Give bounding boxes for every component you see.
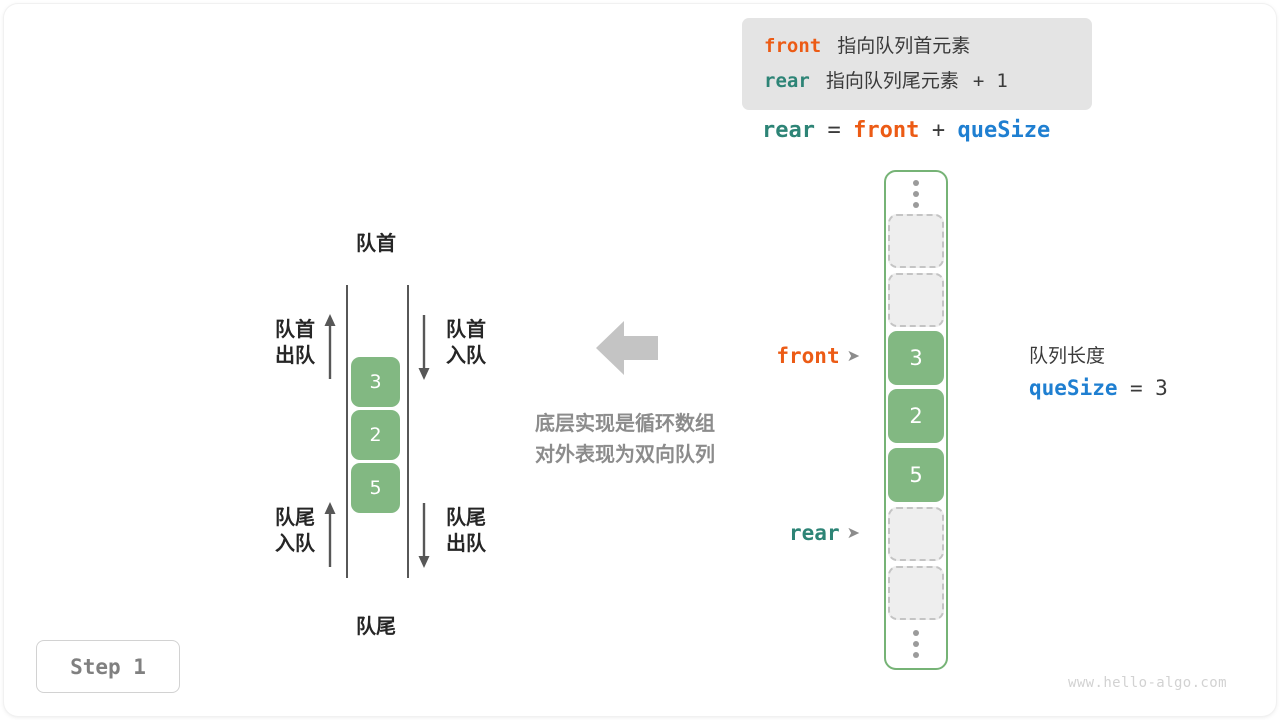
- arrow-up-front-pop-icon: [320, 313, 340, 381]
- op-tail-pop-label: 队尾 出队: [446, 505, 486, 556]
- array-cell-0: [888, 214, 944, 268]
- array-cell-2-value: 3: [909, 346, 922, 370]
- big-left-arrow-icon: [594, 318, 660, 378]
- legend-front-term: front: [764, 35, 821, 57]
- front-pointer-label: front➤: [700, 344, 860, 368]
- op-tail-push-label: 队尾 入队: [251, 505, 315, 556]
- front-pointer-arrow-icon: ➤: [847, 346, 860, 365]
- deque-cell-0: 3: [351, 357, 400, 407]
- rear-pointer-arrow-icon: ➤: [847, 523, 860, 542]
- op-front-push-label: 队首 入队: [446, 317, 486, 368]
- array-ellipsis-top-icon: [908, 180, 924, 214]
- op-tail-pop-line2: 出队: [446, 531, 486, 557]
- deque-cell-0-value: 3: [369, 371, 381, 393]
- arrow-up-tail-push-icon: [320, 501, 340, 569]
- op-tail-pop-line1: 队尾: [446, 505, 486, 531]
- array-ellipsis-bottom-icon: [908, 630, 924, 664]
- deque-cell-1-value: 2: [369, 424, 381, 446]
- op-front-push-line2: 入队: [446, 343, 486, 369]
- op-front-push-line1: 队首: [446, 317, 486, 343]
- diagram-canvas: front 指向队列首元素 rear 指向队列尾元素 + 1 rear = fr…: [0, 0, 1280, 720]
- legend-line-rear: rear 指向队列尾元素 + 1: [764, 66, 1008, 93]
- center-note: 底层实现是循环数组 对外表现为双向队列: [500, 408, 750, 470]
- rear-pointer-text: rear: [789, 521, 840, 545]
- legend-rear-one: 1: [996, 70, 1007, 92]
- formula-rhs-front: front: [853, 118, 919, 143]
- queue-length-title: 队列长度: [1029, 341, 1168, 368]
- arrow-down-tail-pop-icon: [414, 501, 434, 569]
- formula-plus: +: [932, 118, 945, 143]
- op-tail-push-line1: 队尾: [251, 505, 315, 531]
- op-front-pop-line1: 队首: [251, 317, 315, 343]
- queue-length-value-row: queSize = 3: [1029, 376, 1168, 400]
- watermark: www.hello-algo.com: [1068, 675, 1227, 691]
- legend-rear-plus: +: [973, 70, 984, 92]
- array-cell-3: 2: [888, 389, 944, 443]
- array-cell-5: [888, 507, 944, 561]
- legend-box: front 指向队列首元素 rear 指向队列尾元素 + 1: [742, 18, 1092, 110]
- formula-lhs: rear: [762, 118, 815, 143]
- deque-label-rear: 队尾: [306, 610, 446, 639]
- deque-cell-2: 5: [351, 463, 400, 513]
- front-pointer-text: front: [776, 344, 839, 368]
- deque-label-front: 队首: [306, 227, 446, 256]
- array-cell-4: 5: [888, 448, 944, 502]
- formula-rear-equals-front-plus-quesize: rear = front + queSize: [762, 118, 1050, 143]
- legend-line-front: front 指向队列首元素: [764, 31, 970, 58]
- step-badge: Step 1: [36, 640, 180, 693]
- array-cell-2: 3: [888, 331, 944, 385]
- arrow-down-front-push-icon: [414, 313, 434, 381]
- deque-rail-right: [407, 285, 409, 578]
- array-cell-3-value: 2: [909, 404, 922, 428]
- legend-front-desc: 指向队列首元素: [837, 35, 970, 57]
- formula-equals: =: [827, 118, 840, 143]
- rear-pointer-label: rear➤: [700, 521, 860, 545]
- quesize-value: 3: [1155, 376, 1168, 400]
- array-cell-1: [888, 273, 944, 327]
- deque-rail-left: [346, 285, 348, 578]
- array-cell-6: [888, 566, 944, 620]
- legend-rear-term: rear: [764, 70, 810, 92]
- op-tail-push-line2: 入队: [251, 531, 315, 557]
- quesize-var: queSize: [1029, 376, 1118, 400]
- quesize-equals: =: [1130, 376, 1143, 400]
- deque-cell-2-value: 5: [369, 477, 381, 499]
- array-cell-4-value: 5: [909, 463, 922, 487]
- center-note-line1: 底层实现是循环数组: [500, 408, 750, 439]
- formula-rhs-quesize: queSize: [958, 118, 1051, 143]
- center-note-line2: 对外表现为双向队列: [500, 439, 750, 470]
- op-front-pop-label: 队首 出队: [251, 317, 315, 368]
- deque-cell-1: 2: [351, 410, 400, 460]
- queue-length-note: 队列长度 queSize = 3: [1029, 341, 1168, 400]
- legend-rear-desc: 指向队列尾元素: [826, 70, 959, 92]
- op-front-pop-line2: 出队: [251, 343, 315, 369]
